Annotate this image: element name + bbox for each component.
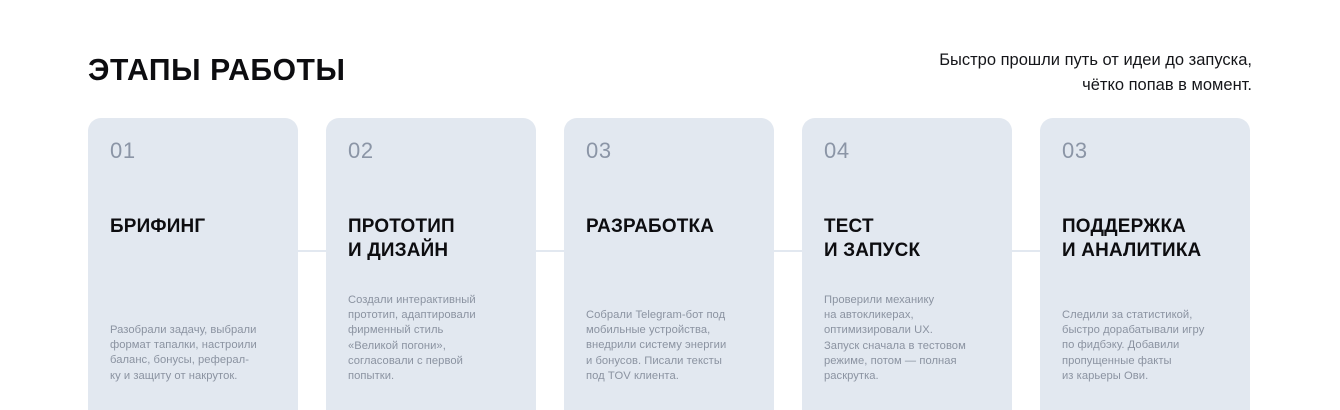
stage-description: Создали интерактивный прототип, адаптиро… xyxy=(348,293,526,384)
stage-description: Следили за статистикой, быстро дорабатыв… xyxy=(1062,308,1240,384)
description-line: баланс, бонусы, реферал- xyxy=(110,353,288,368)
stage-number: 04 xyxy=(824,140,990,162)
description-line: на автокликерах, xyxy=(824,308,1002,323)
stage-description: Собрали Telegram-бот под мобильные устро… xyxy=(586,308,764,384)
section-header: ЭТАПЫ РАБОТЫ Быстро прошли путь от идеи … xyxy=(88,44,1252,100)
stage-title: ПОДДЕРЖКА И АНАЛИТИКА xyxy=(1062,214,1231,262)
stage-title-line-1: ПРОТОТИП xyxy=(348,214,517,238)
stage-title-line-1: ТЕСТ xyxy=(824,214,993,238)
description-line: по фидбэку. Добавили xyxy=(1062,338,1240,353)
description-line: ку и защиту от накруток. xyxy=(110,369,288,384)
description-line: прототип, адаптировали xyxy=(348,308,526,323)
description-line: Собрали Telegram-бот под xyxy=(586,308,764,323)
stage-card-4[interactable]: 04 ТЕСТ И ЗАПУСК Проверили механику на а… xyxy=(802,118,1012,410)
stage-number: 03 xyxy=(1062,140,1228,162)
stage-connector-4-5 xyxy=(1012,118,1040,410)
description-line: и бонусов. Писали тексты xyxy=(586,354,764,369)
stage-connector-1-2 xyxy=(298,118,326,410)
stage-title-line-1: ПОДДЕРЖКА xyxy=(1062,214,1231,238)
description-line: попытки. xyxy=(348,369,526,384)
description-line: «Великой погони», xyxy=(348,339,526,354)
description-line: быстро дорабатывали игру xyxy=(1062,323,1240,338)
stage-number: 02 xyxy=(348,140,514,162)
description-line: пропущенные факты xyxy=(1062,354,1240,369)
stage-title: РАЗРАБОТКА xyxy=(586,214,755,238)
stage-description: Проверили механику на автокликерах, опти… xyxy=(824,293,1002,384)
description-line: режиме, потом — полная xyxy=(824,354,1002,369)
stage-connector-2-3 xyxy=(536,118,564,410)
stage-connector-3-4 xyxy=(774,118,802,410)
description-line: Следили за статистикой, xyxy=(1062,308,1240,323)
description-line: из карьеры Ови. xyxy=(1062,369,1240,384)
stage-title-line-2: И ЗАПУСК xyxy=(824,238,993,262)
subtitle-line-2: чётко попав в момент. xyxy=(939,73,1252,98)
description-line: внедрили систему энергии xyxy=(586,338,764,353)
description-line: оптимизировали UX. xyxy=(824,323,1002,338)
stage-cards-row: 01 БРИФИНГ Разобрали задачу, выбрали фор… xyxy=(88,118,1250,410)
stage-title-line-1: РАЗРАБОТКА xyxy=(586,214,755,238)
description-line: Запуск сначала в тестовом xyxy=(824,339,1002,354)
stage-card-2[interactable]: 02 ПРОТОТИП И ДИЗАЙН Создали интерактивн… xyxy=(326,118,536,410)
stage-title: ПРОТОТИП И ДИЗАЙН xyxy=(348,214,517,262)
stage-description: Разобрали задачу, выбрали формат тапалки… xyxy=(110,323,288,384)
stage-number: 01 xyxy=(110,140,276,162)
description-line: Проверили механику xyxy=(824,293,1002,308)
subtitle-line-1: Быстро прошли путь от идеи до запуска, xyxy=(939,48,1252,73)
stage-title-line-2: И ДИЗАЙН xyxy=(348,238,517,262)
stage-number: 03 xyxy=(586,140,752,162)
description-line: Создали интерактивный xyxy=(348,293,526,308)
description-line: формат тапалки, настроили xyxy=(110,338,288,353)
stage-title-line-2: И АНАЛИТИКА xyxy=(1062,238,1231,262)
stage-card-3[interactable]: 03 РАЗРАБОТКА Собрали Telegram-бот под м… xyxy=(564,118,774,410)
description-line: мобильные устройства, xyxy=(586,323,764,338)
process-stages-section: ЭТАПЫ РАБОТЫ Быстро прошли путь от идеи … xyxy=(0,0,1340,410)
description-line: фирменный стиль xyxy=(348,323,526,338)
description-line: Разобрали задачу, выбрали xyxy=(110,323,288,338)
stage-card-5[interactable]: 03 ПОДДЕРЖКА И АНАЛИТИКА Следили за стат… xyxy=(1040,118,1250,410)
page-title: ЭТАПЫ РАБОТЫ xyxy=(88,44,346,85)
stage-title-line-1: БРИФИНГ xyxy=(110,214,279,238)
description-line: согласовали с первой xyxy=(348,354,526,369)
stage-card-1[interactable]: 01 БРИФИНГ Разобрали задачу, выбрали фор… xyxy=(88,118,298,410)
description-line: под TOV клиента. xyxy=(586,369,764,384)
section-subtitle: Быстро прошли путь от идеи до запуска, ч… xyxy=(939,44,1252,98)
stage-title: БРИФИНГ xyxy=(110,214,279,238)
description-line: раскрутка. xyxy=(824,369,1002,384)
stage-title: ТЕСТ И ЗАПУСК xyxy=(824,214,993,262)
